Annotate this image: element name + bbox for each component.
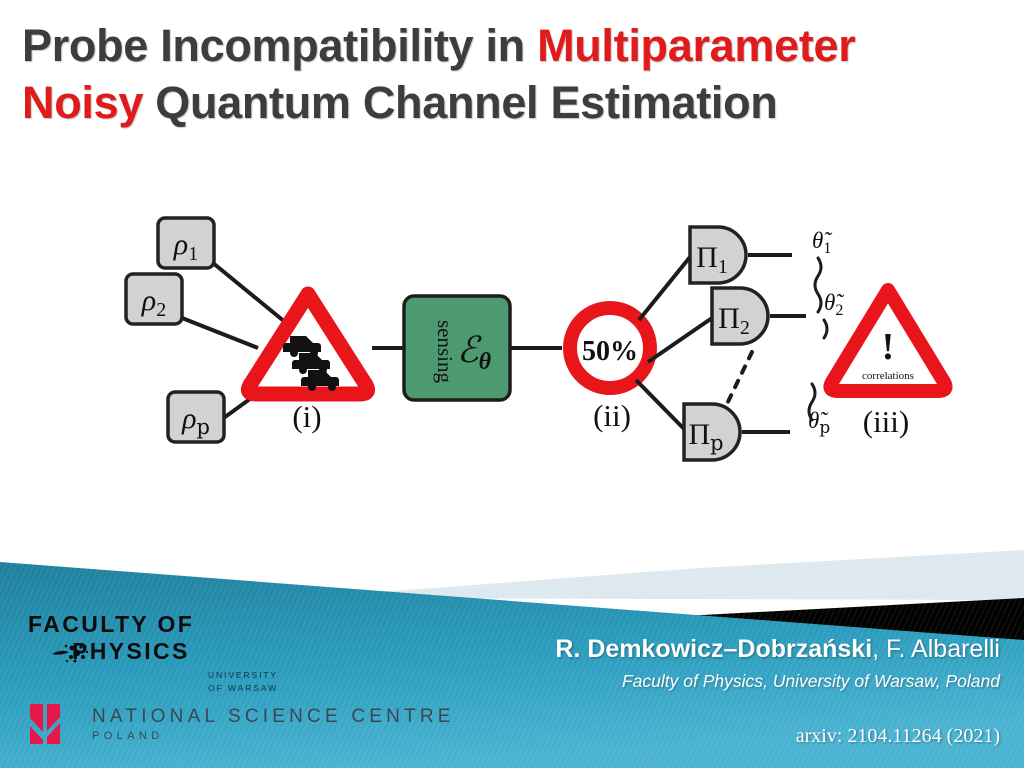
estimate-theta-1: θ̃1 (812, 228, 833, 257)
correlation-squiggles (809, 258, 827, 420)
author-affiliation: Faculty of Physics, University of Warsaw… (555, 671, 1000, 692)
probe-box-rho-2[interactable]: ρ2 (126, 274, 182, 324)
title-part-highlight-2: Noisy (22, 77, 143, 128)
measurement-box-pi-1[interactable]: Π1 (690, 227, 746, 283)
measurement-box-pi-2[interactable]: Π2 (712, 288, 768, 344)
nsc-mark-icon (26, 700, 74, 748)
arxiv-reference: arxiv: 2104.11264 (2021) (796, 725, 1000, 748)
stage-i-marker: (i) (292, 399, 321, 434)
probe-box-rho-1[interactable]: ρ1 (158, 218, 214, 268)
measurement-box-pi-p[interactable]: Πp (684, 404, 740, 460)
nsc-text: NATIONAL SCIENCE CENTRE POLAND (92, 707, 455, 742)
estimate-theta-p: θ̃p (808, 408, 830, 438)
ellipsis-dashed-connector (726, 352, 752, 406)
splatter-icon (50, 640, 92, 666)
stage-ii-marker: (ii) (593, 398, 631, 433)
fop-sub-1: UNIVERSITY (28, 669, 278, 681)
sensing-channel-box[interactable]: sensing ℰθ (404, 296, 510, 400)
author-primary: R. Demkowicz–Dobrzański (555, 635, 872, 663)
correlations-label: correlations (862, 370, 914, 382)
fifty-percent-sign[interactable]: 50% (570, 308, 650, 388)
fifty-percent-label: 50% (582, 336, 638, 367)
nsc-line-2: POLAND (92, 731, 455, 742)
national-science-centre-logo: NATIONAL SCIENCE CENTRE POLAND (26, 700, 455, 748)
title-line-2: Noisy Quantum Channel Estimation (22, 75, 1012, 132)
exclamation-icon: ! (882, 326, 895, 368)
title-part-plain: Probe Incompatibility in (22, 20, 537, 71)
author-secondary: , F. Albarelli (872, 635, 1000, 663)
nsc-line-1: NATIONAL SCIENCE CENTRE (92, 707, 455, 726)
estimate-output-lines (742, 255, 806, 432)
estimate-theta-2: θ̃2 (824, 290, 845, 319)
page-title: Probe Incompatibility in Multiparameter … (22, 18, 1012, 131)
faculty-of-physics-logo: FACULTY OF PHYSICS UNIVERSITY OF WARSAW (28, 613, 278, 695)
correlations-warning-sign[interactable]: ! correlations (830, 290, 945, 391)
title-part-highlight: Multiparameter (537, 20, 855, 71)
estimation-scheme-diagram: ρ1 ρ2 ρp (i) sensing ℰθ 50% (ii) (0, 170, 1024, 540)
author-names: R. Demkowicz–Dobrzański, F. Albarelli (555, 636, 1000, 664)
title-line-1: Probe Incompatibility in Multiparameter (22, 18, 1012, 75)
probe-box-rho-p[interactable]: ρp (168, 392, 224, 442)
fop-sub-2: OF WARSAW (28, 682, 278, 694)
author-block: R. Demkowicz–Dobrzański, F. Albarelli Fa… (555, 636, 1000, 692)
sensing-label: sensing (433, 320, 457, 384)
stage-iii-marker: (iii) (863, 404, 910, 439)
title-part-plain-2: Quantum Channel Estimation (143, 77, 777, 128)
footer-banner: FACULTY OF PHYSICS UNIVERSITY OF WARSAW (0, 540, 1024, 768)
fop-line-1: FACULTY OF (28, 613, 278, 636)
